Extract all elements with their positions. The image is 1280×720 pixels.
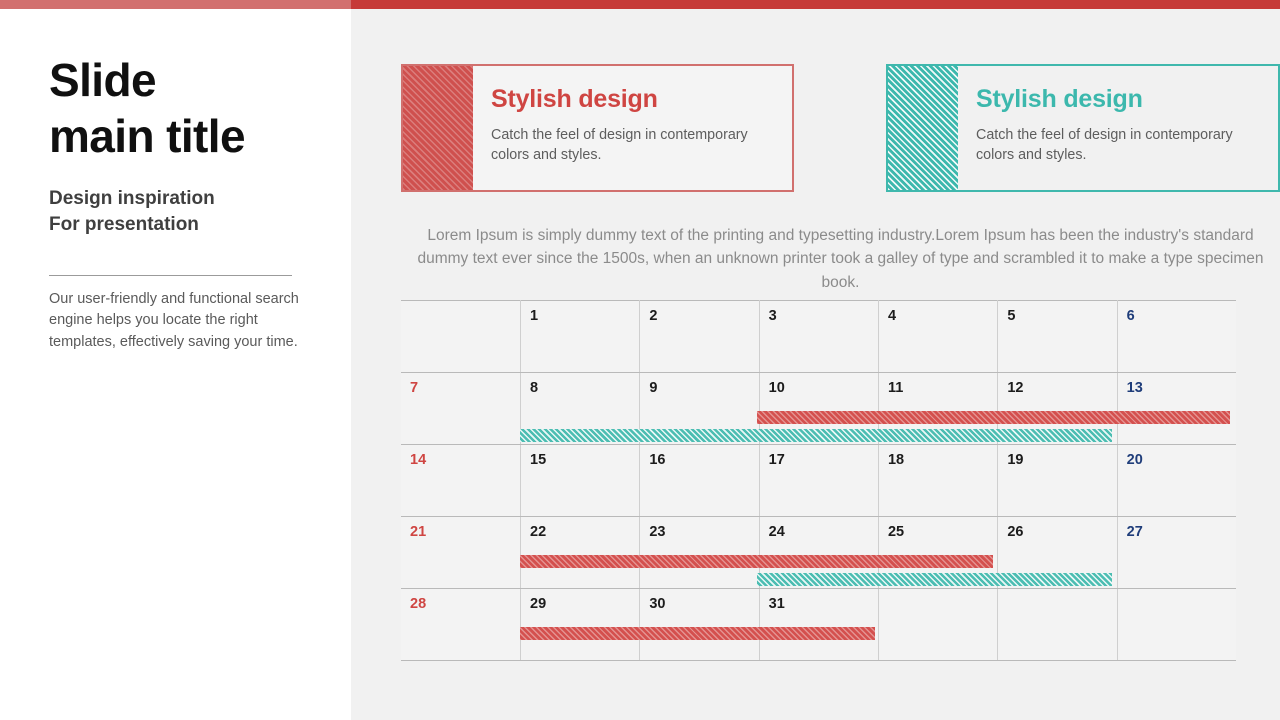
horizontal-divider [49, 275, 292, 276]
calendar-day-number: 30 [649, 597, 665, 612]
calendar-day-cell[interactable]: 28 [401, 589, 521, 661]
calendar-day-number: 4 [888, 309, 896, 324]
feature-card-group: Stylish design Catch the feel of design … [401, 64, 1280, 192]
calendar-day-number: 17 [769, 453, 785, 468]
calendar-day-number: 26 [1007, 525, 1023, 540]
calendar-day-number: 13 [1127, 381, 1143, 396]
calendar-day-cell[interactable]: 14 [401, 445, 521, 517]
page-title-line-1: Slide [49, 52, 307, 108]
calendar-day-cell[interactable]: 10 [759, 373, 878, 445]
calendar-week-row: 123456 [401, 301, 1236, 373]
calendar-timeline: 1234567891011121314151617181920212223242… [401, 300, 1230, 661]
calendar-day-number: 6 [1127, 309, 1135, 324]
calendar-day-cell[interactable] [878, 589, 997, 661]
feature-card-red-title: Stylish design [491, 86, 792, 114]
page-subtitle-line-2: For presentation [49, 212, 307, 238]
calendar-day-number: 20 [1127, 453, 1143, 468]
right-content-panel: Stylish design Catch the feel of design … [351, 9, 1280, 720]
feature-card-teal-body: Stylish design Catch the feel of design … [958, 66, 1278, 190]
calendar-day-cell[interactable]: 2 [640, 301, 759, 373]
calendar-day-number: 29 [530, 597, 546, 612]
calendar-week-row: 28293031 [401, 589, 1236, 661]
calendar-day-cell[interactable] [1117, 589, 1236, 661]
calendar-day-number: 28 [410, 597, 426, 612]
top-accent-bar-right [351, 0, 1280, 9]
calendar-day-cell[interactable]: 5 [998, 301, 1117, 373]
calendar-week-row: 21222324252627 [401, 517, 1236, 589]
calendar-day-number: 5 [1007, 309, 1015, 324]
calendar-day-cell[interactable]: 8 [521, 373, 640, 445]
calendar-day-cell[interactable]: 4 [878, 301, 997, 373]
calendar-day-number: 19 [1007, 453, 1023, 468]
body-paragraph: Lorem Ipsum is simply dummy text of the … [401, 224, 1280, 295]
left-panel-content: Slide main title Design inspiration For … [49, 52, 307, 353]
calendar-day-number: 31 [769, 597, 785, 612]
calendar-day-number: 14 [410, 453, 426, 468]
calendar-day-cell[interactable]: 7 [401, 373, 521, 445]
calendar-day-cell[interactable]: 21 [401, 517, 521, 589]
teal-hatch-swatch-icon [888, 66, 958, 190]
calendar-week-row: 14151617181920 [401, 445, 1236, 517]
feature-card-teal[interactable]: Stylish design Catch the feel of design … [886, 64, 1280, 192]
calendar-day-number: 10 [769, 381, 785, 396]
calendar-day-cell[interactable]: 23 [640, 517, 759, 589]
calendar-day-number: 7 [410, 381, 418, 396]
calendar-day-cell[interactable]: 18 [878, 445, 997, 517]
calendar-day-cell[interactable]: 13 [1117, 373, 1236, 445]
calendar-day-number: 15 [530, 453, 546, 468]
top-accent-bar-left [0, 0, 351, 9]
calendar-day-cell[interactable]: 11 [878, 373, 997, 445]
calendar-day-cell[interactable]: 26 [998, 517, 1117, 589]
calendar-day-cell[interactable]: 3 [759, 301, 878, 373]
calendar-day-cell[interactable]: 12 [998, 373, 1117, 445]
calendar-day-cell[interactable]: 27 [1117, 517, 1236, 589]
page-subtitle-line-1: Design inspiration [49, 186, 307, 212]
calendar-day-cell[interactable]: 1 [521, 301, 640, 373]
calendar-day-cell[interactable]: 31 [759, 589, 878, 661]
left-panel-description: Our user-friendly and functional search … [49, 289, 299, 353]
calendar-day-number: 21 [410, 525, 426, 540]
calendar-day-cell[interactable] [401, 301, 521, 373]
calendar-day-number: 11 [888, 381, 903, 396]
slide-canvas: Slide main title Design inspiration For … [0, 0, 1280, 720]
calendar-day-cell[interactable]: 24 [759, 517, 878, 589]
calendar-day-cell[interactable]: 25 [878, 517, 997, 589]
calendar-day-number: 25 [888, 525, 904, 540]
red-hatch-swatch-icon [403, 66, 473, 190]
feature-card-red[interactable]: Stylish design Catch the feel of design … [401, 64, 794, 192]
calendar-day-number: 23 [649, 525, 665, 540]
calendar-day-number: 18 [888, 453, 904, 468]
calendar-day-number: 22 [530, 525, 546, 540]
calendar-day-cell[interactable]: 9 [640, 373, 759, 445]
calendar-day-cell[interactable]: 22 [521, 517, 640, 589]
page-title-line-2: main title [49, 108, 307, 164]
calendar-day-number: 3 [769, 309, 777, 324]
calendar-day-cell[interactable]: 29 [521, 589, 640, 661]
calendar-day-cell[interactable] [998, 589, 1117, 661]
calendar-day-cell[interactable]: 6 [1117, 301, 1236, 373]
calendar-day-cell[interactable]: 15 [521, 445, 640, 517]
calendar-day-number: 2 [649, 309, 657, 324]
calendar-table: 1234567891011121314151617181920212223242… [401, 300, 1236, 661]
feature-card-red-text: Catch the feel of design in contemporary… [491, 125, 766, 166]
feature-card-red-body: Stylish design Catch the feel of design … [473, 66, 792, 190]
calendar-day-cell[interactable]: 17 [759, 445, 878, 517]
calendar-day-number: 12 [1007, 381, 1023, 396]
calendar-day-cell[interactable]: 20 [1117, 445, 1236, 517]
feature-card-teal-title: Stylish design [976, 86, 1278, 114]
calendar-day-number: 27 [1127, 525, 1143, 540]
calendar-day-number: 1 [530, 309, 538, 324]
calendar-day-number: 16 [649, 453, 665, 468]
calendar-day-number: 8 [530, 381, 538, 396]
calendar-day-cell[interactable]: 16 [640, 445, 759, 517]
calendar-week-row: 78910111213 [401, 373, 1236, 445]
calendar-day-number: 24 [769, 525, 785, 540]
calendar-body: 1234567891011121314151617181920212223242… [401, 301, 1236, 661]
feature-card-teal-text: Catch the feel of design in contemporary… [976, 125, 1251, 166]
calendar-day-cell[interactable]: 30 [640, 589, 759, 661]
page-subtitle: Design inspiration For presentation [49, 186, 307, 238]
left-title-panel: Slide main title Design inspiration For … [0, 9, 351, 720]
calendar-day-number: 9 [649, 381, 657, 396]
calendar-day-cell[interactable]: 19 [998, 445, 1117, 517]
page-title: Slide main title [49, 52, 307, 164]
